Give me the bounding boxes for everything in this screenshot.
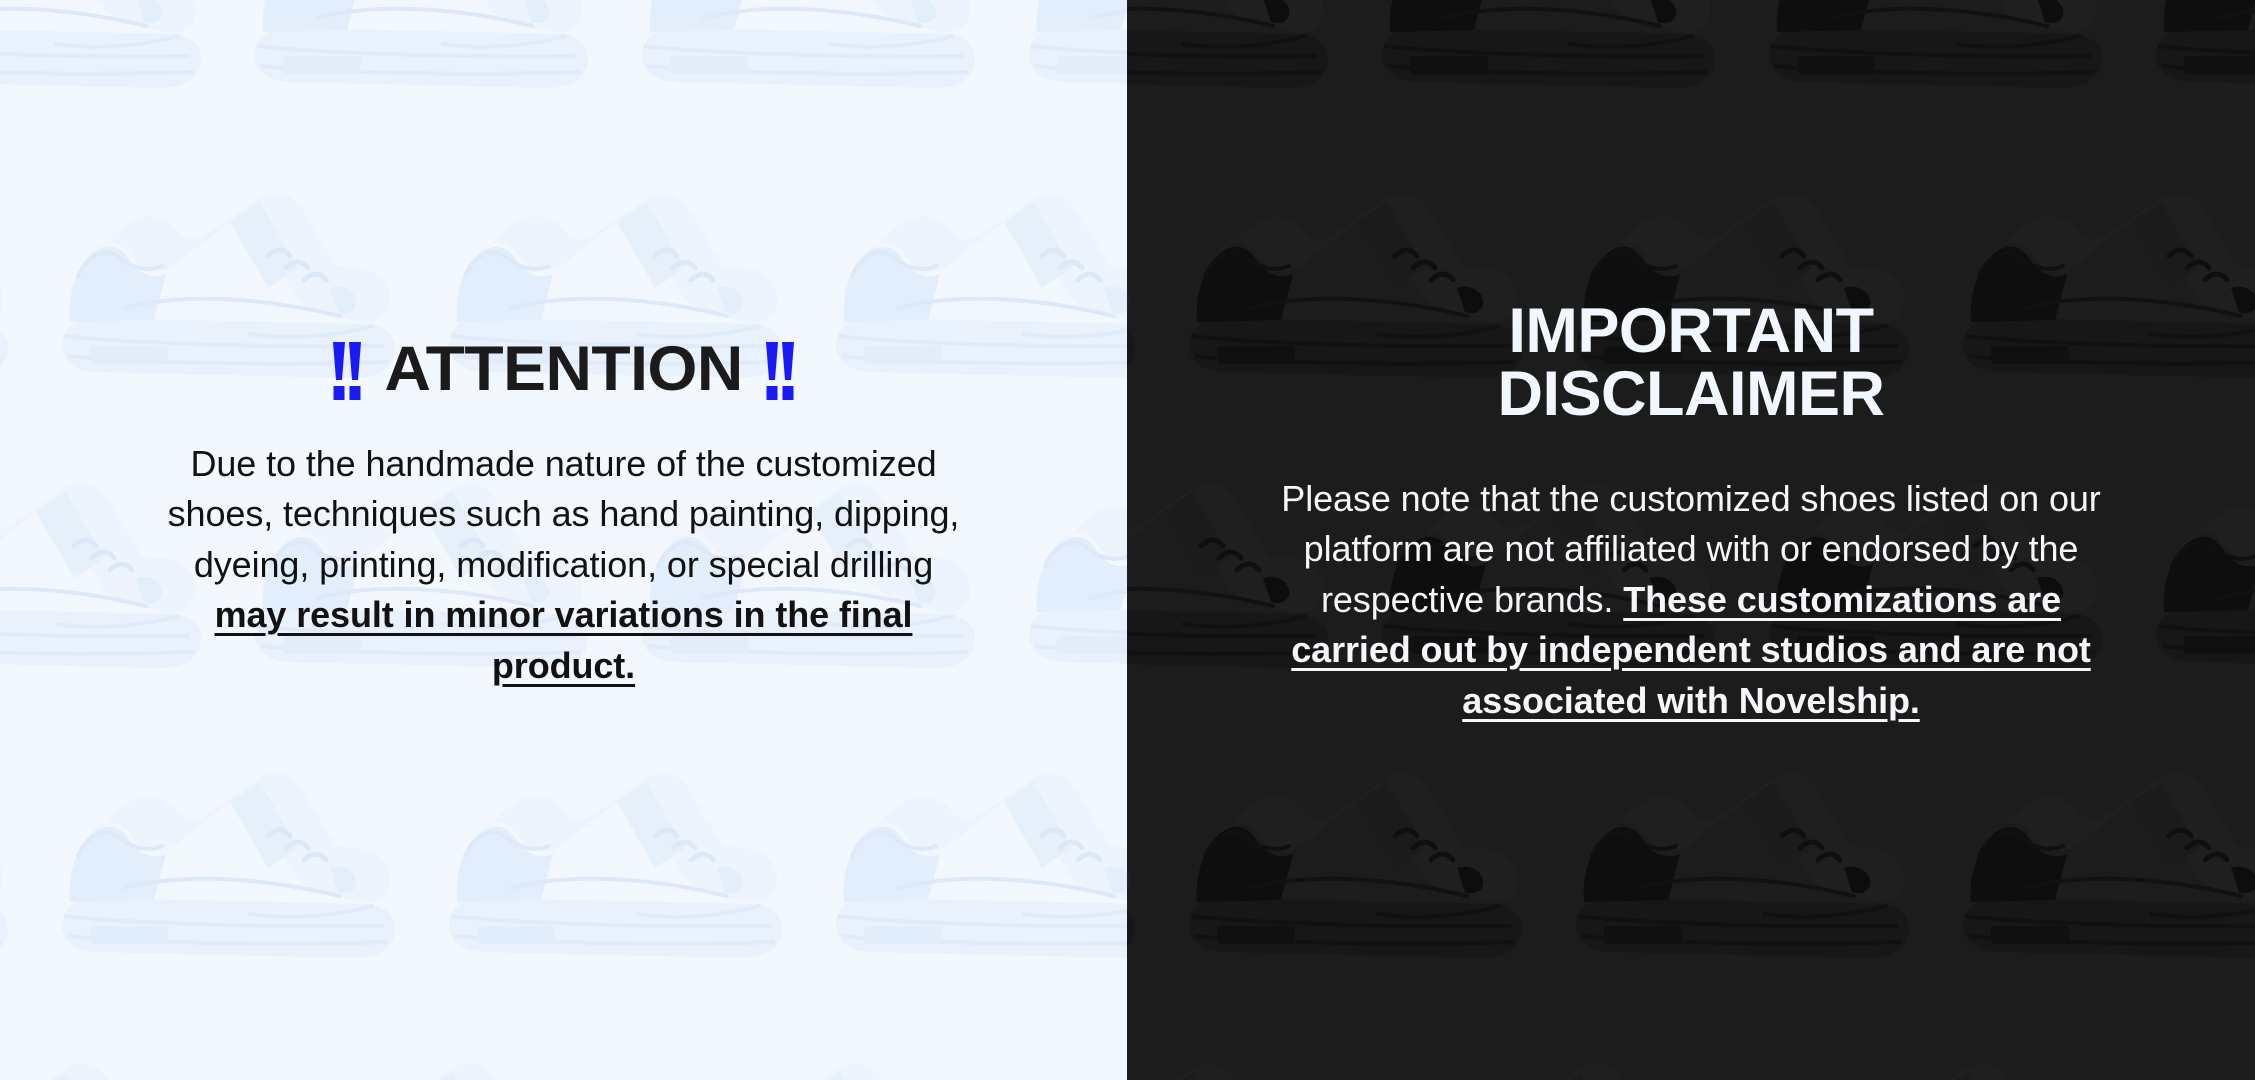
attention-body-emphasis: may result in minor variations in the fi… xyxy=(215,594,913,685)
attention-panel: ATTENTION Due to the handmade nature of … xyxy=(0,0,1127,1080)
attention-body-text: Due to the handmade nature of the custom… xyxy=(164,439,964,691)
disclaimer-heading-line2: DISCLAIMER xyxy=(1498,359,1885,429)
customization-disclaimer-banner: ATTENTION Due to the handmade nature of … xyxy=(0,0,2255,1080)
disclaimer-panel: IMPORTANT DISCLAIMER Please note that th… xyxy=(1127,0,2255,1080)
attention-body-lead: Due to the handmade nature of the custom… xyxy=(168,443,960,585)
disclaimer-body-text: Please note that the customized shoes li… xyxy=(1281,474,2101,726)
attention-heading-text: ATTENTION xyxy=(384,338,742,401)
double-exclamation-icon-right xyxy=(765,340,795,402)
double-exclamation-icon-left xyxy=(332,340,362,402)
disclaimer-heading-line1: IMPORTANT xyxy=(1508,296,1873,366)
attention-heading: ATTENTION xyxy=(332,338,795,401)
disclaimer-heading: IMPORTANT DISCLAIMER xyxy=(1498,300,1885,426)
